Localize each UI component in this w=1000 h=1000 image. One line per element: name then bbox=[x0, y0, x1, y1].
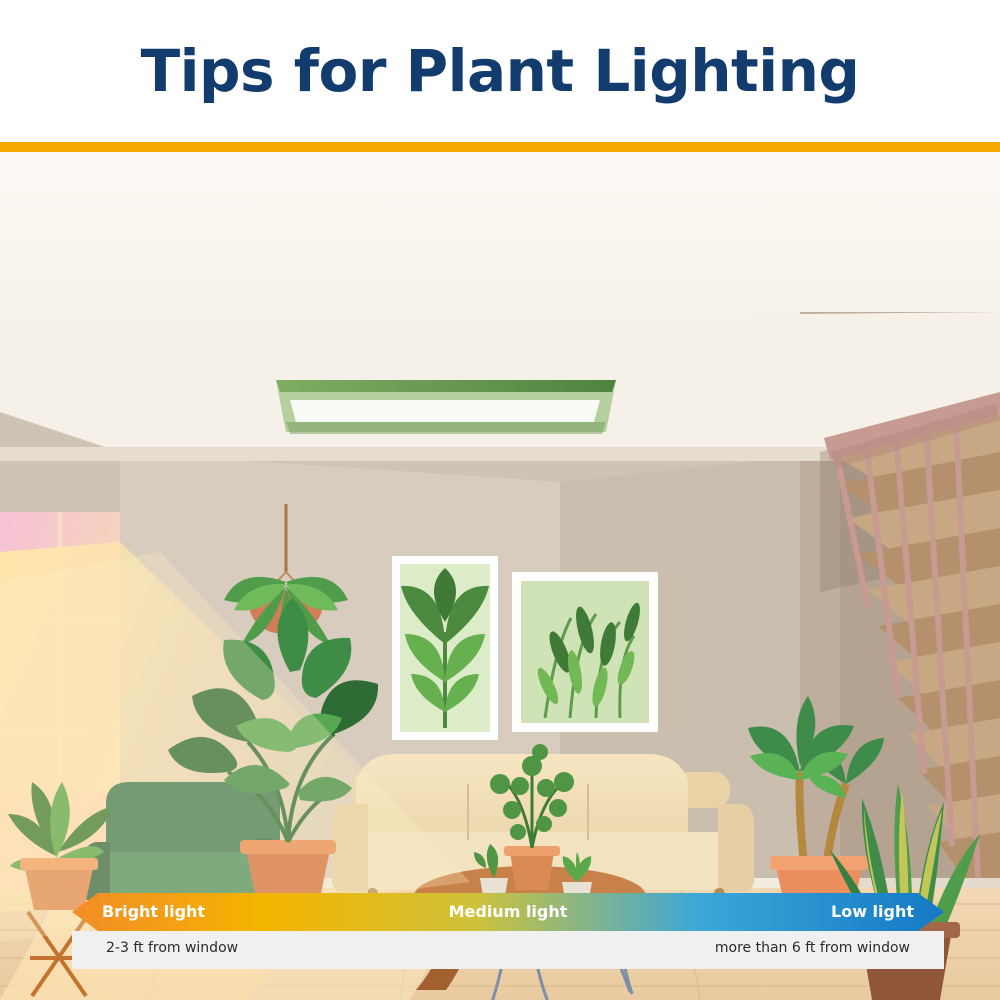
page-title: Tips for Plant Lighting bbox=[141, 37, 860, 105]
legend-label-low: Low light bbox=[831, 902, 914, 921]
legend-notes-bar: 2-3 ft from window more than 6 ft from w… bbox=[72, 931, 944, 969]
ceiling-grow-light bbox=[276, 380, 616, 434]
framed-leaf-art-left bbox=[392, 556, 498, 740]
framed-leaf-art-right bbox=[512, 572, 658, 732]
legend-label-medium: Medium light bbox=[72, 902, 944, 921]
header-accent-bar bbox=[0, 142, 1000, 152]
legend-note-bright: 2-3 ft from window bbox=[106, 940, 238, 956]
legend-note-low: more than 6 ft from window bbox=[715, 940, 910, 956]
light-gradient-legend: Bright light Medium light Low light bbox=[72, 893, 944, 931]
infographic-page: Tips for Plant Lighting bbox=[0, 0, 1000, 1000]
room-illustration bbox=[0, 152, 1000, 1000]
header: Tips for Plant Lighting bbox=[0, 0, 1000, 142]
